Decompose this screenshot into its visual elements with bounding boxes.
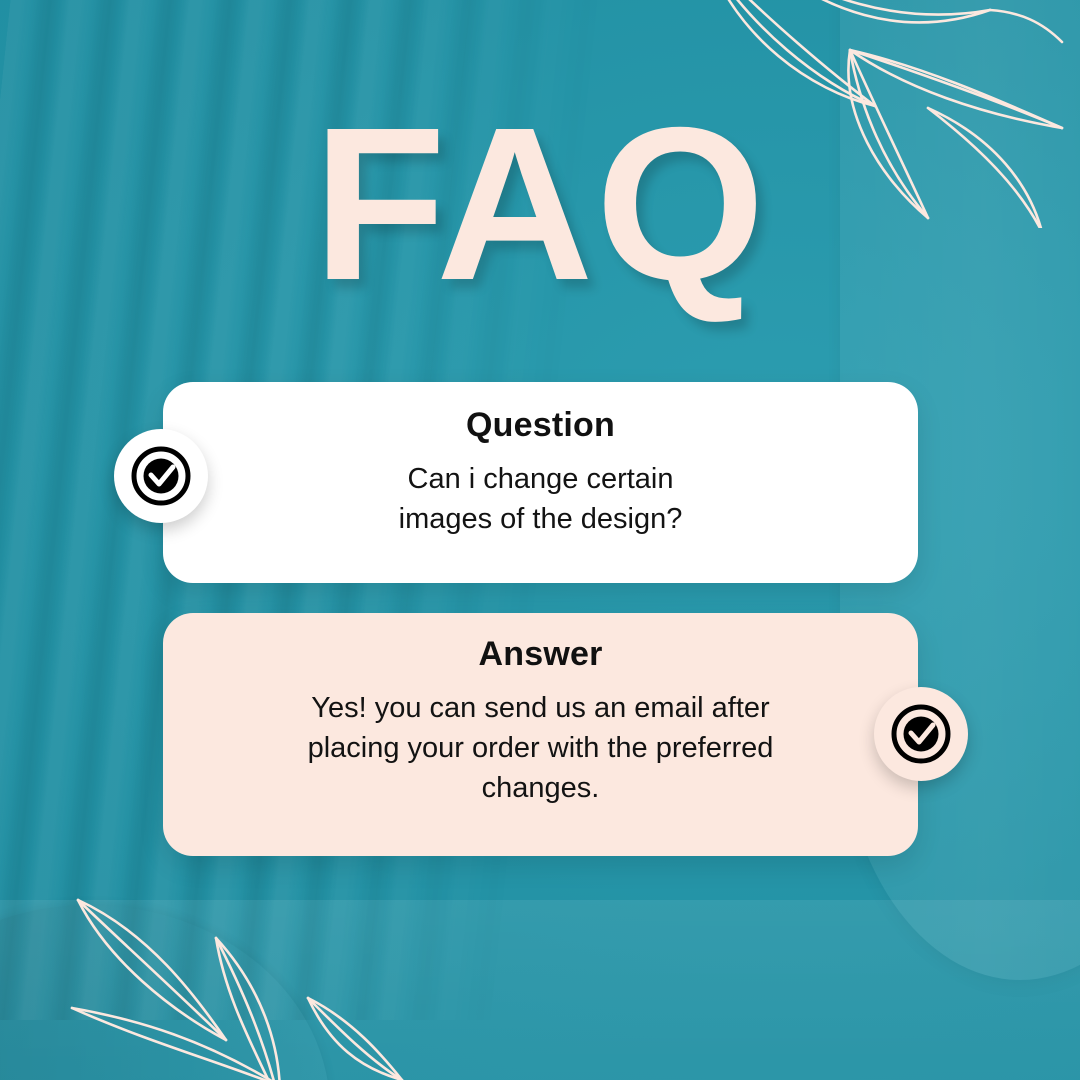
question-line-1: Can i change certain	[203, 459, 878, 499]
answer-heading: Answer	[207, 635, 874, 674]
answer-line-1: Yes! you can send us an email after	[207, 688, 874, 728]
question-card: Question Can i change certain images of …	[163, 382, 918, 583]
faq-poster: FAQ Question Can i change certain images…	[0, 0, 1080, 1080]
answer-line-3: changes.	[207, 768, 874, 808]
check-circle-icon-question	[114, 429, 208, 523]
check-circle-icon	[130, 445, 192, 507]
answer-card: Answer Yes! you can send us an email aft…	[163, 613, 918, 856]
answer-body: Yes! you can send us an email after plac…	[207, 688, 874, 808]
question-heading: Question	[203, 406, 878, 445]
answer-line-2: placing your order with the preferred	[207, 728, 874, 768]
question-body: Can i change certain images of the desig…	[203, 459, 878, 539]
question-line-2: images of the design?	[203, 499, 878, 539]
check-circle-icon	[890, 703, 952, 765]
check-circle-icon-answer	[874, 687, 968, 781]
page-title: FAQ	[0, 96, 1080, 314]
